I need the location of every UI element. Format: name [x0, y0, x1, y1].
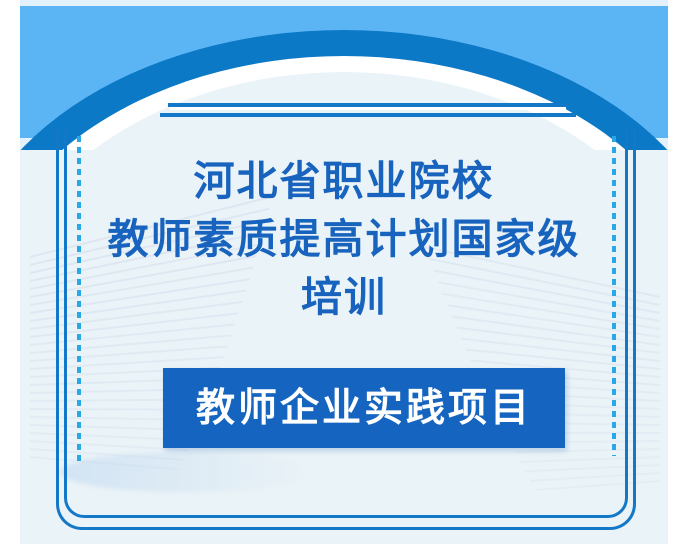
- poster-canvas: 河北省职业院校 教师素质提高计划国家级 培训 教师企业实践项目: [0, 0, 688, 544]
- poster-title: 河北省职业院校 教师素质提高计划国家级 培训: [20, 152, 668, 326]
- program-banner: 教师企业实践项目: [163, 368, 565, 448]
- top-rule-gap: [170, 107, 566, 110]
- top-rule-lower: [160, 113, 576, 117]
- poster-panel: 河北省职业院校 教师素质提高计划国家级 培训 教师企业实践项目: [20, 0, 668, 544]
- title-line-2: 教师素质提高计划国家级: [20, 210, 668, 268]
- title-line-3: 培训: [20, 268, 668, 326]
- title-line-1: 河北省职业院校: [20, 152, 668, 210]
- program-banner-label: 教师企业实践项目: [196, 389, 532, 428]
